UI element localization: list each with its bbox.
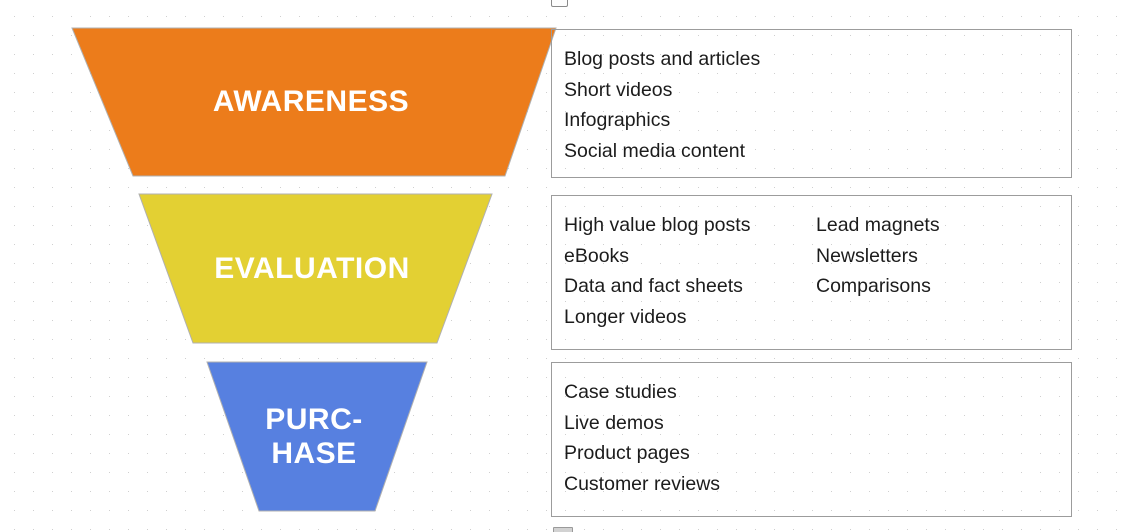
content-item: Comparisons bbox=[816, 271, 1056, 302]
resize-handle-bottom-icon[interactable] bbox=[553, 527, 573, 532]
content-item: Live demos bbox=[564, 408, 816, 439]
content-box-evaluation[interactable]: High value blog posts eBooks Data and fa… bbox=[551, 195, 1072, 350]
content-item: Short videos bbox=[564, 75, 816, 106]
content-column: Lead magnets Newsletters Comparisons bbox=[816, 210, 1056, 349]
content-item: Blog posts and articles bbox=[564, 44, 816, 75]
funnel-stage-label: PURC- HASE bbox=[265, 403, 363, 470]
funnel-stage-label: EVALUATION bbox=[214, 252, 410, 286]
content-item: Social media content bbox=[564, 136, 816, 167]
content-item: Data and fact sheets bbox=[564, 271, 816, 302]
content-item: Longer videos bbox=[564, 302, 816, 333]
content-item: High value blog posts bbox=[564, 210, 816, 241]
content-column: Case studies Live demos Product pages Cu… bbox=[564, 377, 816, 516]
content-item: Lead magnets bbox=[816, 210, 1056, 241]
content-item: Product pages bbox=[564, 438, 816, 469]
funnel-stage-awareness[interactable]: AWARENESS bbox=[64, 22, 564, 182]
funnel-stage-label: AWARENESS bbox=[213, 85, 409, 119]
content-box-purchase[interactable]: Case studies Live demos Product pages Cu… bbox=[551, 362, 1072, 517]
funnel-stage-purchase[interactable]: PURC- HASE bbox=[199, 356, 435, 518]
funnel-stage-evaluation[interactable]: EVALUATION bbox=[131, 188, 501, 350]
content-item: Customer reviews bbox=[564, 469, 816, 500]
content-item: Newsletters bbox=[816, 241, 1056, 272]
content-column: High value blog posts eBooks Data and fa… bbox=[564, 210, 816, 349]
content-item: Case studies bbox=[564, 377, 816, 408]
content-column: Blog posts and articles Short videos Inf… bbox=[564, 44, 816, 177]
content-box-awareness[interactable]: Blog posts and articles Short videos Inf… bbox=[551, 29, 1072, 178]
content-item: eBooks bbox=[564, 241, 816, 272]
content-item: Infographics bbox=[564, 105, 816, 136]
resize-handle-top-icon[interactable] bbox=[551, 0, 568, 7]
diagram-canvas[interactable]: AWARENESS Blog posts and articles Short … bbox=[0, 0, 1122, 532]
